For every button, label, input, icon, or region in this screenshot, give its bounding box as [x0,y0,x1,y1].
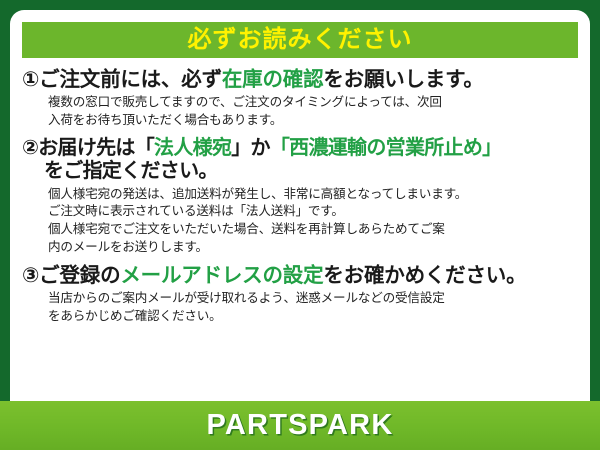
notice-item-3-marker: ③ [22,264,39,287]
notice-item-3-sub-line-2: をあらかじめご確認ください。 [48,308,578,326]
notice-item-1-sub-line-1: 複数の窓口で販売してますので、ご注文のタイミングによっては、次回 [48,94,578,112]
notice-panel: 必ずお読みください ①ご注文前には、必ず在庫の確認をお願いします。 複数の窓口で… [10,10,590,440]
notice-item-1-sub-line-2: 入荷をお待ち頂いただく場合もあります。 [48,112,578,130]
notice-item-2-heading-line-2: をご指定ください。 [22,160,578,183]
notice-item-1-heading-part-3: をお願いします。 [323,68,483,91]
footer-bar: PARTSPARK [0,401,600,450]
notice-item-1-heading: ①ご注文前には、必ず在庫の確認をお願いします。 [22,68,578,92]
notice-item-1-heading-part-1: ご注文前には、必ず [39,68,222,91]
notice-item-2: ②お届け先は「法人様宛」か「西濃運輸の営業所止め」 をご指定ください。 個人様宅… [22,137,578,257]
page-title: 必ずお読みください [188,28,413,52]
notice-item-1-marker: ① [22,68,39,91]
notice-item-1-sub: 複数の窓口で販売してますので、ご注文のタイミングによっては、次回 入荷をお待ち頂… [22,94,578,130]
notice-item-3-heading-part-1: ご登録の [39,264,120,287]
notice-item-2-heading-part-3: 」か [231,137,270,159]
notice-item-2-heading-highlight-1: 法人様宛 [154,137,231,159]
notice-item-3-heading-highlight: メールアドレスの設定 [120,264,323,287]
notice-item-2-sub-line-1: 個人様宅宛の発送は、追加送料が発生し、非常に高額となってしまいます。 [48,186,578,204]
brand-wordmark: PARTSPARK [207,411,394,440]
notice-item-3-sub-line-1: 当店からのご案内メールが受け取れるよう、迷惑メールなどの受信設定 [48,290,578,308]
notice-item-2-heading: ②お届け先は「法人様宛」か「西濃運輸の営業所止め」 [22,137,578,160]
notice-item-2-heading-highlight-2: 「西濃運輸の営業所止め」 [270,137,502,159]
notice-item-1-heading-highlight: 在庫の確認 [222,68,324,91]
notice-card: 必ずお読みください ①ご注文前には、必ず在庫の確認をお願いします。 複数の窓口で… [0,0,600,450]
notice-item-3-sub: 当店からのご案内メールが受け取れるよう、迷惑メールなどの受信設定 をあらかじめご… [22,290,578,326]
notice-item-3-heading-part-3: をお確かめください。 [323,264,526,287]
notice-item-1: ①ご注文前には、必ず在庫の確認をお願いします。 複数の窓口で販売してますので、ご… [22,68,578,130]
notice-item-2-sub: 個人様宅宛の発送は、追加送料が発生し、非常に高額となってしまいます。 ご注文時に… [22,186,578,258]
notice-item-2-sub-line-2: ご注文時に表示されている送料は「法人送料」です。 [48,203,578,221]
header-banner: 必ずお読みください [22,22,578,58]
notice-item-3: ③ご登録のメールアドレスの設定をお確かめください。 当店からのご案内メールが受け… [22,264,578,326]
notice-item-3-heading: ③ご登録のメールアドレスの設定をお確かめください。 [22,264,578,288]
notice-body: ①ご注文前には、必ず在庫の確認をお願いします。 複数の窓口で販売してますので、ご… [10,58,590,326]
notice-item-2-sub-line-3: 個人様宅宛でご注文をいただいた場合、送料を再計算しあらためてご案 [48,221,578,239]
notice-item-2-marker: ② [22,137,38,159]
notice-item-2-sub-line-4: 内のメールをお送りします。 [48,239,578,257]
notice-item-2-heading-part-1: お届け先は「 [38,137,154,159]
